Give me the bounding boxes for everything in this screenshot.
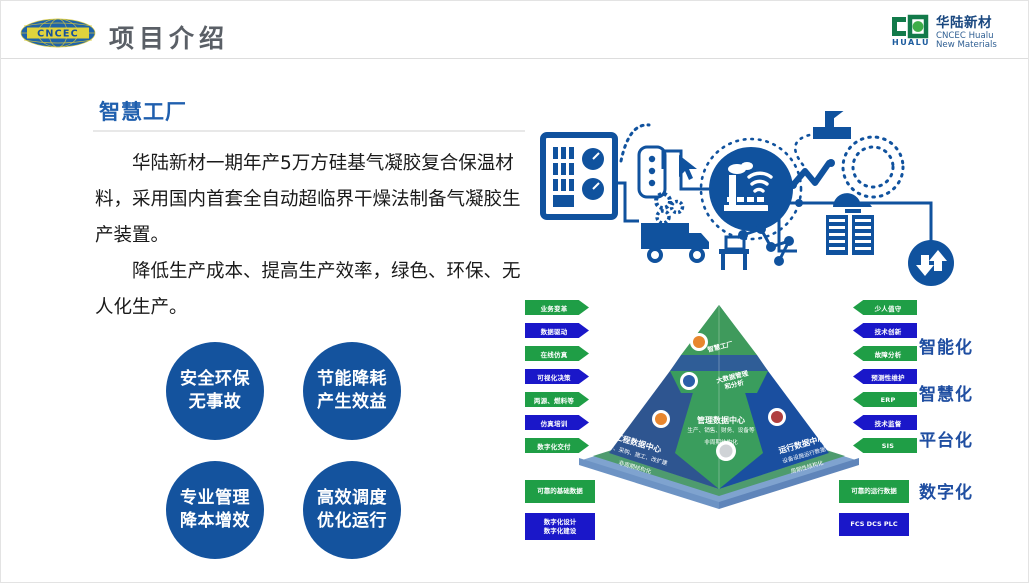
right-box-2[interactable]: FCS DCS PLC <box>839 513 909 536</box>
right-chevron-4-label: 预测性维护 <box>853 372 917 382</box>
right-chevron-7-label: SIS <box>853 442 917 450</box>
hualu-logo: HUALU 华陆新材 CNCEC Hualu New Materials <box>886 13 1014 49</box>
left-chevron-2[interactable]: 数据驱动 <box>525 323 589 338</box>
highlight-circle-2-line2: 产生效益 <box>317 391 387 414</box>
cncec-logo: CNCEC <box>19 18 97 48</box>
workstation-icon <box>719 237 749 270</box>
right-chevron-3-label: 故障分析 <box>853 349 917 359</box>
highlight-circle-4-line1: 高效调度 <box>317 487 387 510</box>
highlight-circle-1-line2: 无事故 <box>189 391 242 414</box>
right-box-1-label: 可靠的运行数据 <box>851 487 897 496</box>
highlight-circle-3-line2: 降本增效 <box>180 510 250 533</box>
left-chevron-7[interactable]: 数字化交付 <box>525 438 589 453</box>
right-chevron-5-label: ERP <box>853 396 917 404</box>
left-chevron-7-label: 数字化交付 <box>525 441 589 451</box>
left-chevron-2-label: 数据驱动 <box>525 326 589 336</box>
pyramid-graphic <box>521 293 1026 553</box>
highlight-circle-1-line1: 安全环保 <box>180 368 250 391</box>
body-text: 华陆新材一期年产5万方硅基气凝胶复合保温材料，采用国内首套全自动超临界干燥法制备… <box>95 146 535 326</box>
pyramid-diagram: 智慧工厂 大数据管理和分析 管理数据中心 生产、销售、财务、设备等 非周期结构化… <box>521 293 1026 553</box>
left-chevron-3-label: 在线仿真 <box>525 349 589 359</box>
pyramid-faces <box>609 305 829 489</box>
robot-arm-icon <box>813 111 868 139</box>
right-chevron-2-label: 技术创新 <box>853 326 917 336</box>
svg-text:CNCEC: CNCEC <box>37 28 79 39</box>
header-divider <box>1 58 1028 59</box>
right-box-1[interactable]: 可靠的运行数据 <box>839 480 909 503</box>
category-label-3: 平台化 <box>919 426 973 451</box>
analytics-icon <box>789 159 835 189</box>
left-box-2[interactable]: 数字化设计数字化建设 <box>525 513 595 540</box>
category-label-4: 数字化 <box>919 478 973 503</box>
left-chevron-1[interactable]: 业务变革 <box>525 300 589 315</box>
body-paragraph-1: 华陆新材一期年产5万方硅基气凝胶复合保温材料，采用国内首套全自动超临界干燥法制备… <box>95 146 535 254</box>
left-chevron-4[interactable]: 可视化决策 <box>525 369 589 384</box>
slide-page: CNCEC 项目介绍 HUALU 华陆新材 CNCEC Hualu New Ma… <box>0 0 1029 583</box>
page-title: 项目介绍 <box>109 19 229 55</box>
highlight-circle-2[interactable]: 节能降耗 产生效益 <box>303 342 401 440</box>
left-chevron-6[interactable]: 仿真培训 <box>525 415 589 430</box>
right-chevron-1[interactable]: 少人值守 <box>853 300 917 315</box>
truck-icon <box>641 223 709 261</box>
highlight-circle-2-line1: 节能降耗 <box>317 368 387 391</box>
left-box-1-label: 可靠的基础数据 <box>537 487 583 496</box>
right-chevron-6-label: 技术监督 <box>853 418 917 428</box>
left-chevron-6-label: 仿真培训 <box>525 418 589 428</box>
right-chevron-6[interactable]: 技术监督 <box>853 415 917 430</box>
transfer-icon <box>908 240 954 286</box>
server-rack-icon <box>826 215 874 255</box>
left-chevron-5-label: 两源、燃料等 <box>525 395 589 405</box>
factory-icon <box>701 139 801 239</box>
signal-dots-icon <box>639 147 665 197</box>
slide-header: CNCEC 项目介绍 HUALU 华陆新材 CNCEC Hualu New Ma… <box>1 1 1028 58</box>
left-box-1[interactable]: 可靠的基础数据 <box>525 480 595 503</box>
highlight-circle-1[interactable]: 安全环保 无事故 <box>166 342 264 440</box>
left-box-2-label: 数字化设计数字化建设 <box>544 518 577 536</box>
left-chevron-3[interactable]: 在线仿真 <box>525 346 589 361</box>
category-label-1: 智能化 <box>919 333 973 358</box>
right-chevron-4[interactable]: 预测性维护 <box>853 369 917 384</box>
left-chevron-4-label: 可视化决策 <box>525 372 589 382</box>
hualu-en-line2: New Materials <box>936 40 997 49</box>
right-box-2-label: FCS DCS PLC <box>850 520 897 529</box>
highlight-circle-4-line2: 优化运行 <box>317 510 387 533</box>
section-title: 智慧工厂 <box>99 96 187 126</box>
right-chevron-2[interactable]: 技术创新 <box>853 323 917 338</box>
hualu-mark-text: HUALU <box>892 38 930 47</box>
highlight-circle-4[interactable]: 高效调度 优化运行 <box>303 461 401 559</box>
section-title-rule <box>93 130 525 132</box>
hualu-cn-text: 华陆新材 <box>936 14 992 31</box>
highlight-circle-3[interactable]: 专业管理 降本增效 <box>166 461 264 559</box>
right-chevron-5[interactable]: ERP <box>853 392 917 407</box>
smart-factory-illustration <box>521 111 1021 291</box>
left-chevron-5[interactable]: 两源、燃料等 <box>525 392 589 407</box>
right-chevron-3[interactable]: 故障分析 <box>853 346 917 361</box>
right-chevron-7[interactable]: SIS <box>853 438 917 453</box>
category-label-2: 智慧化 <box>919 380 973 405</box>
left-chevron-1-label: 业务变革 <box>525 303 589 313</box>
gears-icon <box>656 194 683 223</box>
control-panel-icon <box>543 135 615 217</box>
body-paragraph-2: 降低生产成本、提高生产效率，绿色、环保、无人化生产。 <box>95 254 535 326</box>
right-chevron-1-label: 少人值守 <box>853 303 917 313</box>
highlight-circle-3-line1: 专业管理 <box>180 487 250 510</box>
